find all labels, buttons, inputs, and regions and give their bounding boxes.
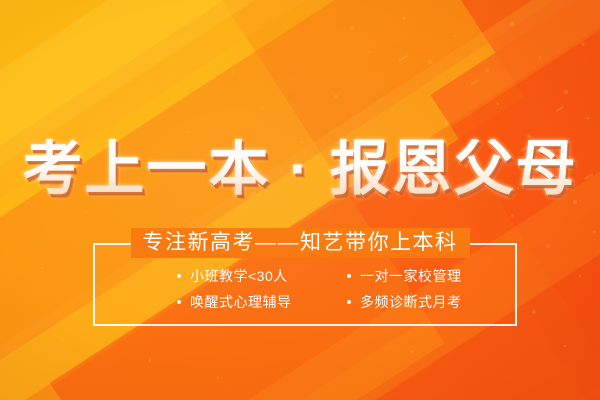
bullet-dot-icon bbox=[177, 274, 181, 278]
headline: 考上一本 · 报恩父母 bbox=[0, 139, 600, 199]
list-item: 唤醒式心理辅导 bbox=[177, 292, 347, 312]
list-item: 一对一家校管理 bbox=[347, 266, 517, 286]
subtitle-text: 专注新高考——知艺带你上本科 bbox=[131, 228, 470, 258]
list-item: 多频诊断式月考 bbox=[347, 292, 517, 312]
bullet-dot-icon bbox=[347, 300, 351, 304]
bullet-dot-icon bbox=[177, 300, 181, 304]
subtitle-container: 专注新高考——知艺带你上本科 bbox=[0, 228, 600, 258]
feature-label: 一对一家校管理 bbox=[360, 266, 462, 286]
feature-label: 唤醒式心理辅导 bbox=[190, 292, 292, 312]
feature-label: 小班教学<30人 bbox=[190, 266, 288, 286]
feature-label: 多频诊断式月考 bbox=[360, 292, 462, 312]
promo-banner: 考上一本 · 报恩父母 考上一本 · 报恩父母 专注新高考——知艺带你上本科 小… bbox=[0, 0, 600, 400]
bullet-dot-icon bbox=[347, 274, 351, 278]
feature-list: 小班教学<30人 一对一家校管理 唤醒式心理辅导 多频诊断式月考 bbox=[93, 266, 517, 312]
list-item: 小班教学<30人 bbox=[177, 266, 347, 286]
headline-text: 考上一本 · 报恩父母 bbox=[22, 139, 577, 199]
